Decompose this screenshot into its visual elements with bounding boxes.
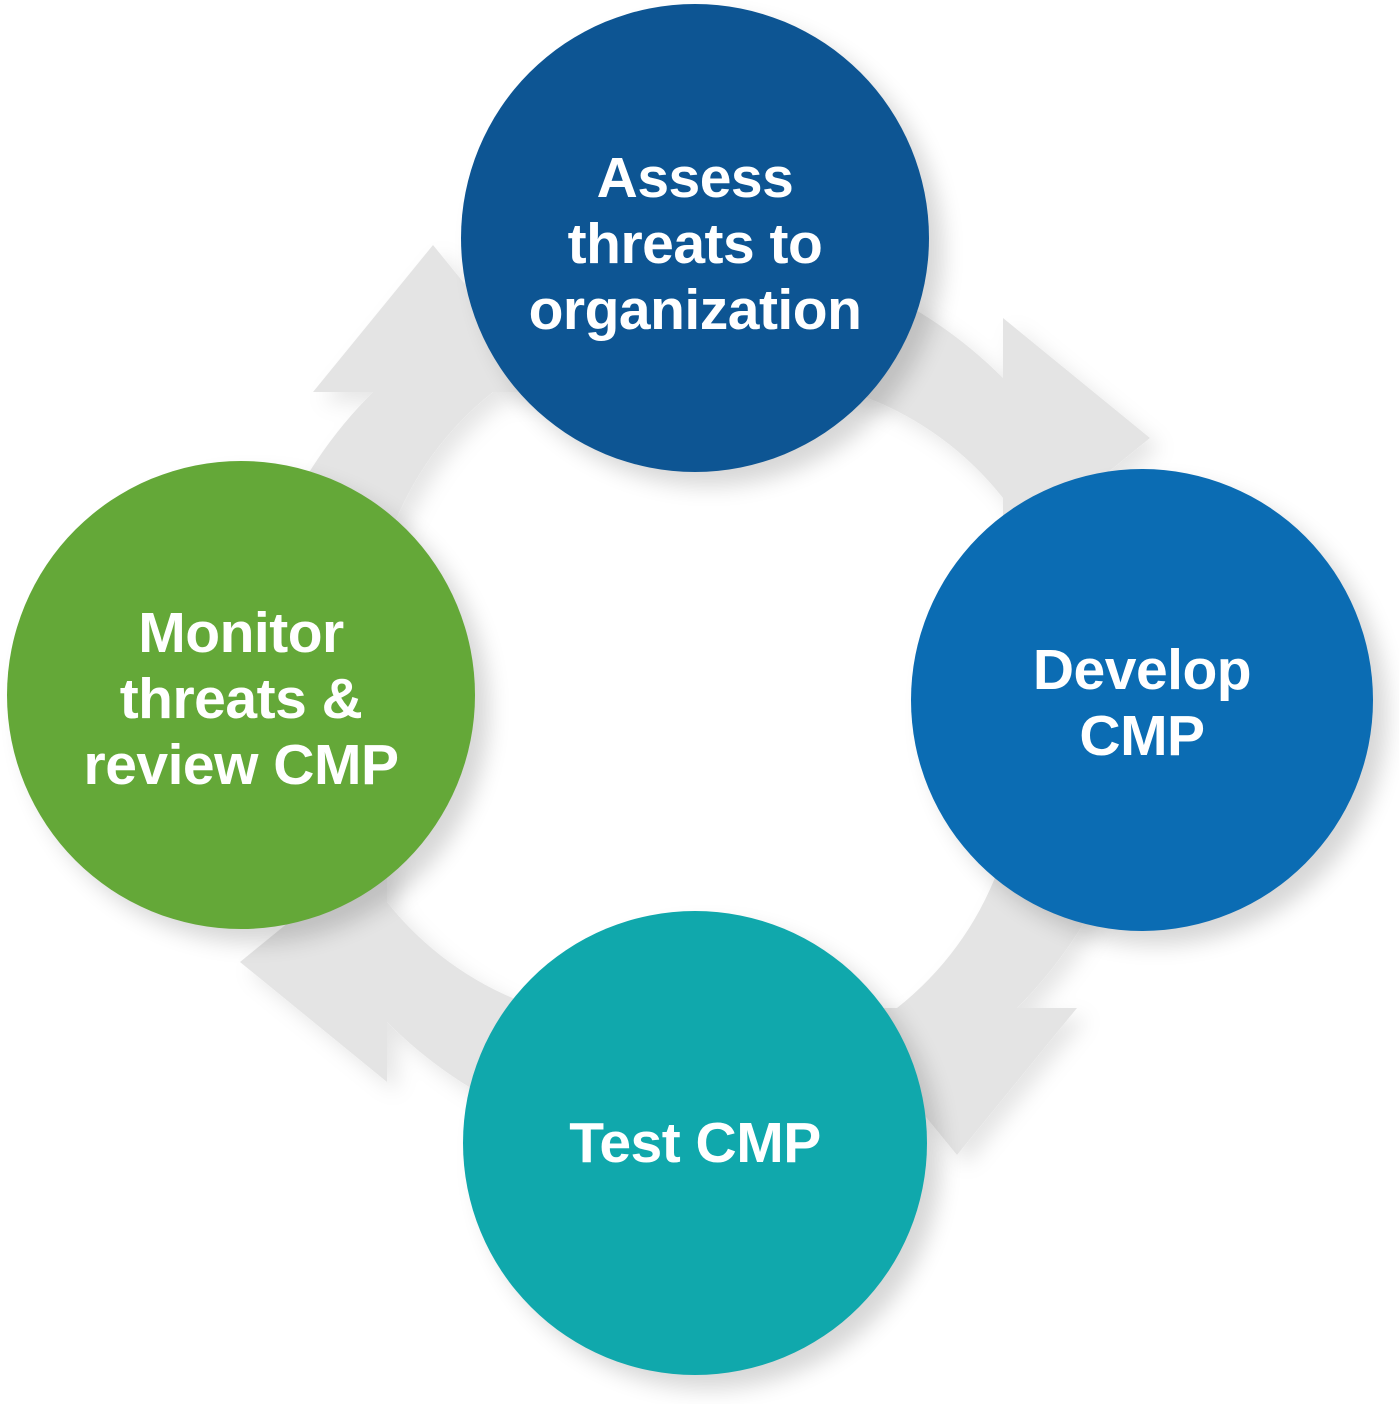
cycle-node-develop-label: Develop CMP: [1027, 637, 1257, 769]
cycle-node-test[interactable]: Test CMP: [463, 911, 927, 1375]
cycle-node-monitor[interactable]: Monitor threats & review CMP: [7, 461, 475, 929]
cycle-node-assess-label: Assess threats to organization: [523, 145, 868, 343]
cycle-node-monitor-label: Monitor threats & review CMP: [78, 600, 405, 798]
cycle-node-develop[interactable]: Develop CMP: [911, 469, 1373, 931]
cycle-diagram: Assess threats to organization Develop C…: [0, 0, 1399, 1404]
cycle-node-test-label: Test CMP: [563, 1110, 826, 1176]
cycle-node-assess[interactable]: Assess threats to organization: [461, 4, 929, 472]
